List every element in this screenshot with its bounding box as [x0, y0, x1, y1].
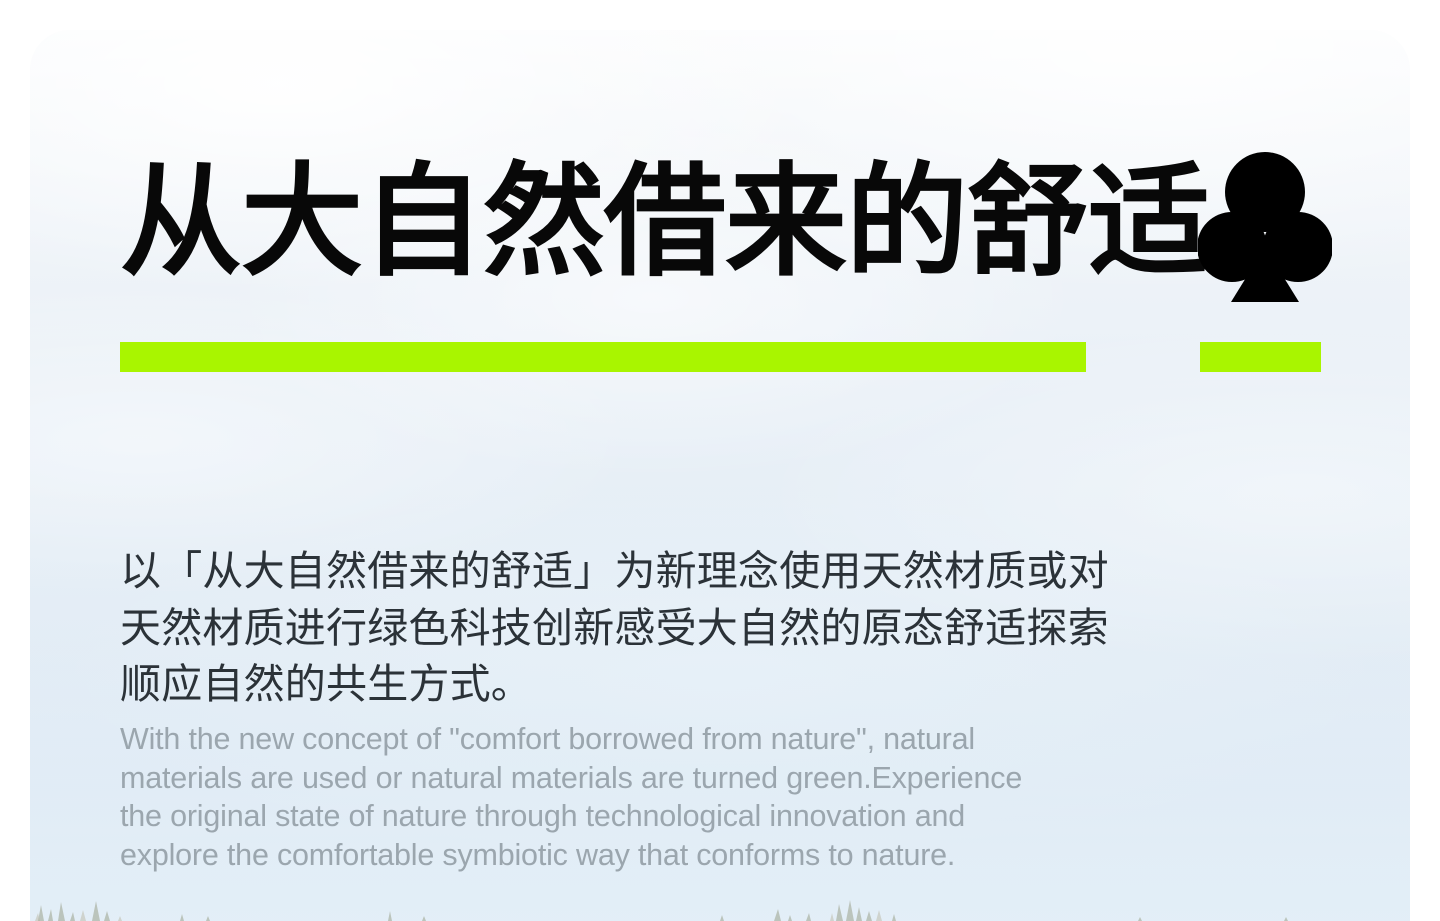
body-copy-english: With the new concept of "comfort borrowe…: [120, 720, 1110, 875]
body-copy-english-line: materials are used or natural materials …: [120, 759, 1110, 798]
body-copy-english-line: explore the comfortable symbiotic way th…: [120, 836, 1110, 875]
hero-card: 从大自然借来的舒适 以「从大自然借来的舒适」为新理念使用天然材质或对天然材质进行…: [30, 30, 1410, 921]
body-copy-chinese: 以「从大自然借来的舒适」为新理念使用天然材质或对天然材质进行绿色科技创新感受大自…: [120, 543, 1120, 713]
accent-rule-primary: [120, 342, 1086, 372]
body-copy-english-line: the original state of nature through tec…: [120, 797, 1110, 836]
accent-rule-secondary: [1200, 342, 1321, 372]
foreground-vegetation-icon: [30, 887, 1410, 921]
club-clover-logo-icon: [1198, 150, 1332, 305]
body-copy-english-line: With the new concept of "comfort borrowe…: [120, 720, 1110, 759]
page-title: 从大自然借来的舒适: [120, 161, 1120, 283]
